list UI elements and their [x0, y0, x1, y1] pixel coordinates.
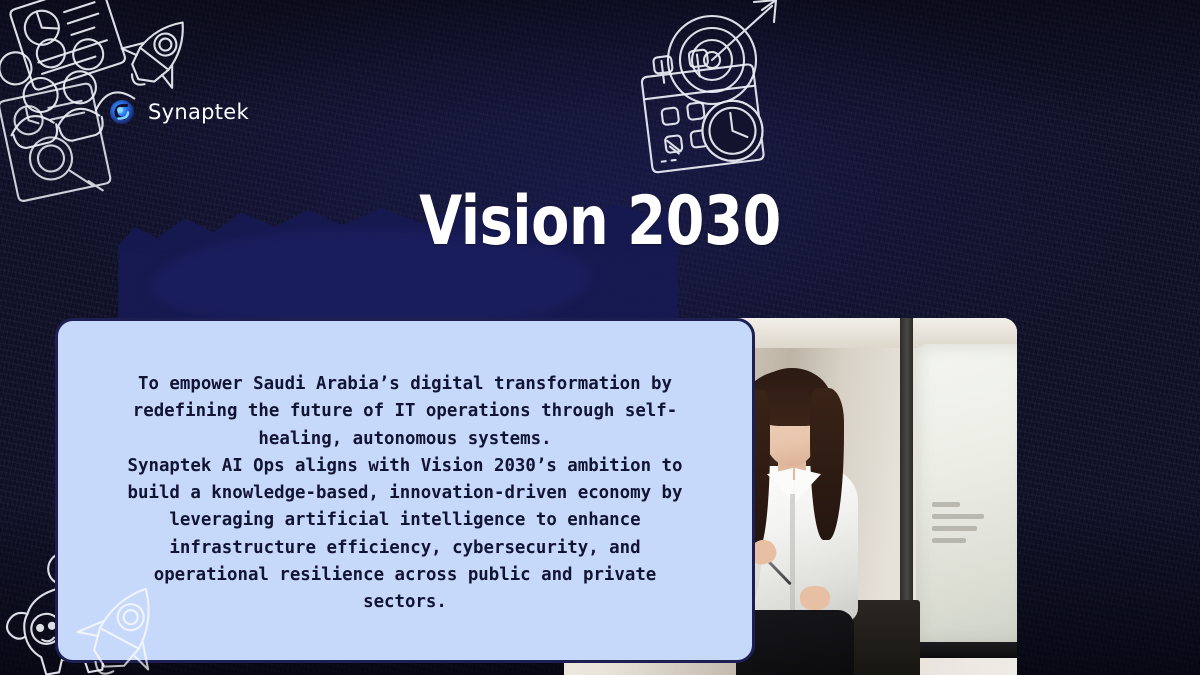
projection-screen-text	[932, 502, 994, 550]
brand-lockup: Synaptek	[108, 98, 249, 126]
page-title: Vision 2030	[108, 183, 1092, 261]
synaptek-spiral-logo-icon	[108, 98, 136, 126]
slide-canvas: To empower Saudi Arabia’s digital transf…	[0, 0, 1200, 675]
brand-name: Synaptek	[148, 100, 249, 124]
calendar-clock-icon	[630, 42, 780, 182]
projection-screen	[916, 344, 1017, 644]
rocket-icon	[58, 578, 188, 675]
